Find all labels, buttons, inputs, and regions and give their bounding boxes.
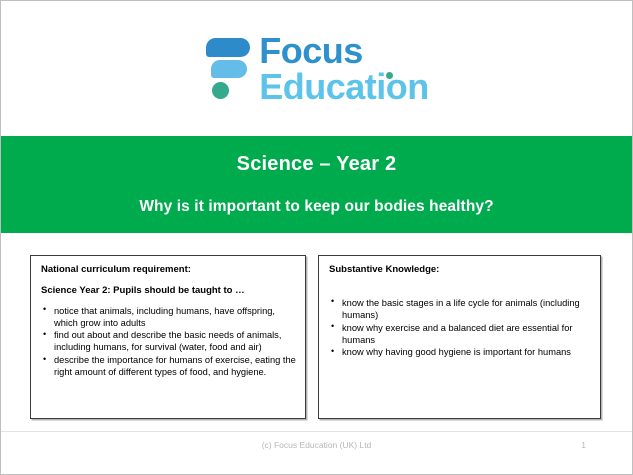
title-band: Science – Year 2 Why is it important to … bbox=[1, 136, 632, 233]
list-item: notice that animals, including humans, h… bbox=[41, 305, 296, 329]
panel-heading-substantive-knowledge: Substantive Knowledge: bbox=[329, 264, 591, 276]
logo-word-focus: Focus bbox=[259, 33, 429, 68]
footer-copyright: (c) Focus Education (UK) Ltd bbox=[1, 440, 632, 450]
panel-heading-national-curriculum: National curriculum requirement: bbox=[41, 264, 296, 276]
content-area: National curriculum requirement: Science… bbox=[1, 233, 632, 431]
logo-wordmark: Focus Education bbox=[259, 33, 429, 104]
enquiry-question: Why is it important to keep our bodies h… bbox=[139, 198, 493, 216]
national-curriculum-panel: National curriculum requirement: Science… bbox=[30, 255, 306, 419]
focus-education-logo: Focus Education bbox=[204, 33, 429, 104]
footer: (c) Focus Education (UK) Ltd 1 bbox=[1, 431, 632, 474]
logo-word-education: Education bbox=[259, 69, 429, 104]
national-curriculum-bullet-list: notice that animals, including humans, h… bbox=[41, 305, 296, 378]
list-item: find out about and describe the basic ne… bbox=[41, 329, 296, 353]
substantive-knowledge-bullet-list: know the basic stages in a life cycle fo… bbox=[329, 297, 591, 358]
logo-band: Focus Education bbox=[1, 1, 632, 136]
focus-education-f-logo-icon bbox=[204, 38, 250, 100]
logo-bar-middle-shape bbox=[211, 60, 247, 78]
footer-page-number: 1 bbox=[581, 440, 586, 450]
list-item: know why having good hygiene is importan… bbox=[329, 346, 591, 358]
logo-word-education-text: Education bbox=[259, 66, 429, 107]
logo-circle-shape bbox=[212, 82, 229, 99]
panel-subheading-pupils-taught: Science Year 2: Pupils should be taught … bbox=[41, 285, 296, 297]
list-item: describe the importance for humans of ex… bbox=[41, 354, 296, 378]
substantive-knowledge-panel: Substantive Knowledge: know the basic st… bbox=[318, 255, 601, 419]
slide: Focus Education Science – Year 2 Why is … bbox=[0, 0, 633, 475]
list-item: know the basic stages in a life cycle fo… bbox=[329, 297, 591, 321]
list-item: know why exercise and a balanced diet ar… bbox=[329, 322, 591, 346]
subject-year-title: Science – Year 2 bbox=[237, 153, 397, 176]
logo-i-dot-icon bbox=[386, 72, 393, 79]
logo-bar-top-shape bbox=[206, 38, 250, 57]
panel-spacer bbox=[329, 285, 591, 297]
